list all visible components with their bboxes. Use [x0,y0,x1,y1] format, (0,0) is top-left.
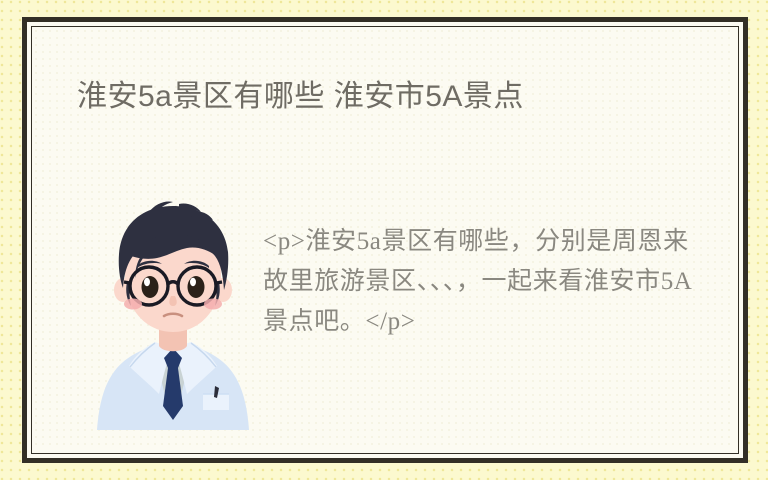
page-title: 淮安5a景区有哪些 淮安市5A景点 [77,78,524,116]
article-body-area: <p>淮安5a景区有哪些，分别是周恩来故里旅游景区、、、，一起来看淮安市5A景点… [35,180,735,450]
article-card: 淮安5a景区有哪些 淮安市5A景点 [35,30,735,450]
page-background: 淮安5a景区有哪些 淮安市5A景点 [0,0,768,480]
lab-coat-group [97,342,249,430]
article-paragraph: <p>淮安5a景区有哪些，分别是周恩来故里旅游景区、、、，一起来看淮安市5A景点… [263,222,693,342]
card-frame-outer: 淮安5a景区有哪些 淮安市5A景点 [22,17,748,463]
cartoon-doctor-avatar [93,198,253,430]
